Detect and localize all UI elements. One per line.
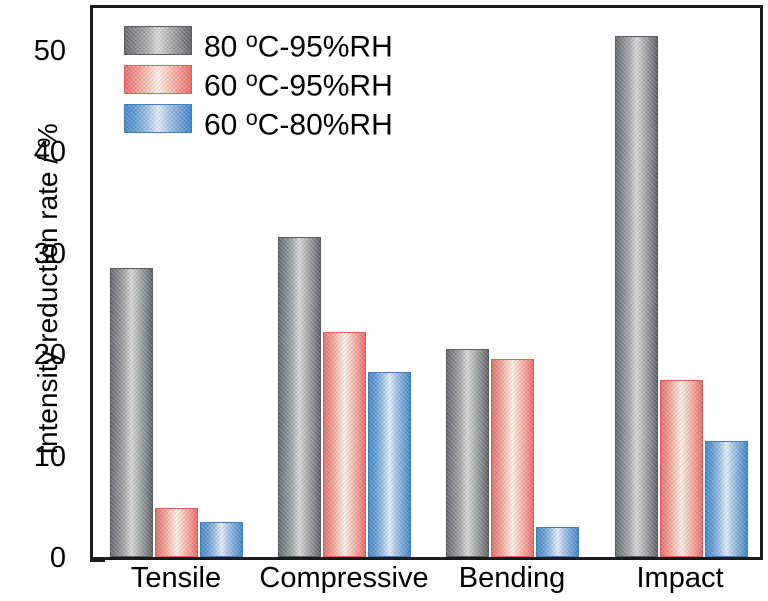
bar-bending-series-0[interactable] [446,349,489,557]
bar-tensile-series-2[interactable] [200,522,243,557]
legend-label-0: 80 oC-95%RH [204,23,393,65]
y-tick-label-10: 10 [34,443,66,472]
bar-compressive-series-1[interactable] [323,332,366,557]
bar-impact-series-2[interactable] [705,441,748,557]
legend-swatch-blue [124,104,192,133]
bar-bending-series-2[interactable] [536,527,579,557]
bar-impact-series-0[interactable] [615,36,658,557]
y-tick-label-30: 30 [34,240,66,269]
plot-area: 80 oC-95%RH 60 oC-95%RH 60 oC-80%RH [90,5,763,560]
legend-label-1: 60 oC-95%RH [204,62,393,104]
y-tick-label-20: 20 [34,341,66,370]
chart-root: Intensity reduction rate / % 01020304050… [0,0,768,601]
x-tick-label-impact: Impact [540,564,768,593]
bar-tensile-series-1[interactable] [155,508,198,557]
y-tick-label-40: 40 [34,138,66,167]
legend-swatch-red [124,65,192,94]
y-tick-label-50: 50 [34,37,66,66]
legend-swatch-gray [124,26,192,55]
bar-compressive-series-0[interactable] [278,237,321,557]
bar-tensile-series-0[interactable] [110,268,153,557]
legend-label-2: 60 oC-80%RH [204,101,393,143]
bars-layer [93,8,760,557]
bar-bending-series-1[interactable] [491,359,534,557]
bar-compressive-series-2[interactable] [368,372,411,557]
bar-impact-series-1[interactable] [660,380,703,557]
